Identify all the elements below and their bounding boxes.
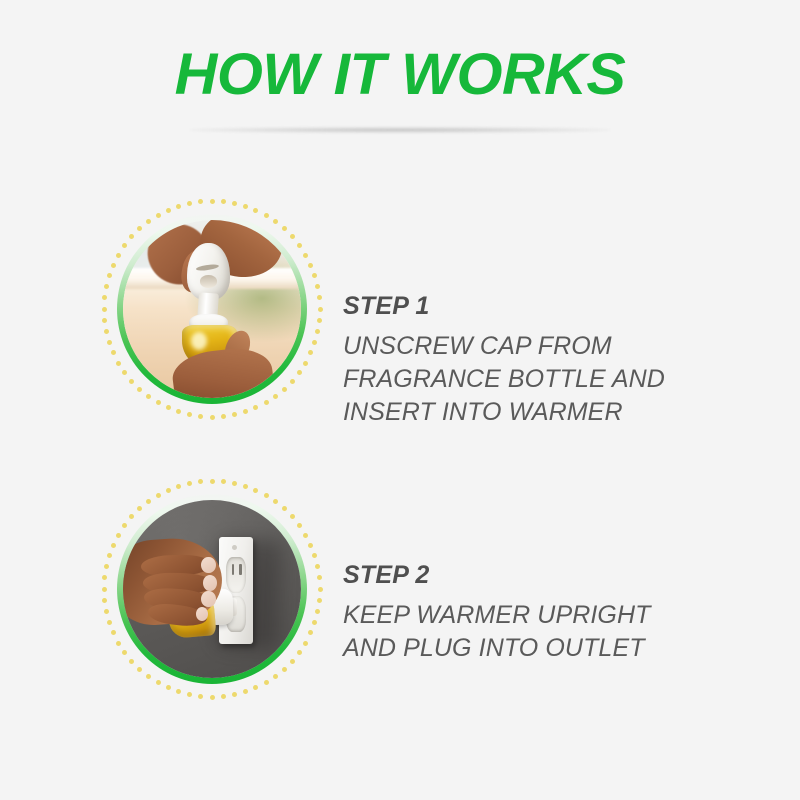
steps-list: STEP 1 UNSCREW CAP FROM FRAGRANCE BOTTLE…: [0, 150, 800, 800]
photo-scene-plug-into-outlet: [123, 500, 301, 678]
step-row: STEP 1 UNSCREW CAP FROM FRAGRANCE BOTTLE…: [0, 195, 800, 475]
step-photo: [123, 500, 301, 678]
step-image-badge: [98, 475, 326, 703]
green-ring-border: [117, 494, 307, 684]
title-underline-shadow: [188, 127, 612, 133]
step-image-badge: [98, 195, 326, 423]
step-description: UNSCREW CAP FROM FRAGRANCE BOTTLE AND IN…: [343, 330, 763, 429]
green-ring-border: [117, 214, 307, 404]
step-label: STEP 2: [343, 560, 763, 590]
step-text-block: STEP 2 KEEP WARMER UPRIGHT AND PLUG INTO…: [343, 560, 763, 665]
step-photo: [123, 220, 301, 398]
step-description: KEEP WARMER UPRIGHT AND PLUG INTO OUTLET: [343, 599, 763, 665]
photo-scene-unscrew-cap: [123, 220, 301, 398]
step-text-block: STEP 1 UNSCREW CAP FROM FRAGRANCE BOTTLE…: [343, 291, 763, 429]
step-label: STEP 1: [343, 291, 763, 321]
header: HOW IT WORKS: [0, 0, 800, 150]
page-title: HOW IT WORKS: [0, 44, 800, 106]
step-row: STEP 2 KEEP WARMER UPRIGHT AND PLUG INTO…: [0, 475, 800, 755]
